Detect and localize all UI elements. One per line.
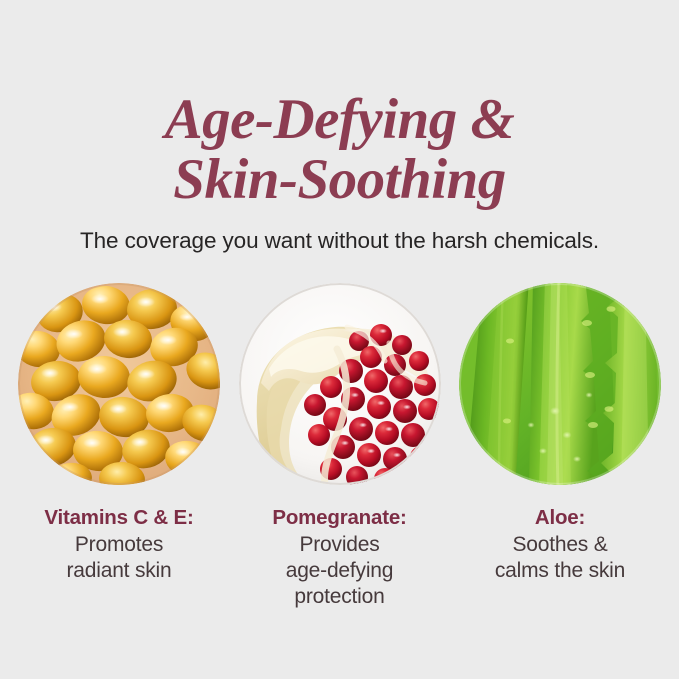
ingredient-caption: Pomegranate: Provides age-defying protec…: [272, 505, 406, 610]
promo-panel: Age-Defying & Skin-Soothing The coverage…: [0, 0, 679, 679]
ingredient-body: Promotes radiant skin: [44, 532, 193, 584]
ingredient-body-line: Soothes &: [495, 532, 625, 558]
ingredient-body-line: radiant skin: [44, 558, 193, 584]
ingredient-title: Aloe:: [495, 505, 625, 531]
ingredient-body-line: Provides: [272, 532, 406, 558]
ingredient-column-aloe: Aloe: Soothes & calms the skin: [459, 283, 661, 610]
ingredient-body: Provides age-defying protection: [272, 532, 406, 610]
ingredient-columns: Vitamins C & E: Promotes radiant skin: [0, 283, 679, 610]
aloe-vera-leaves-photo: [459, 283, 661, 485]
page-title: Age-Defying & Skin-Soothing: [0, 90, 679, 210]
ingredient-body-line: age-defying: [272, 558, 406, 584]
ingredient-caption: Aloe: Soothes & calms the skin: [495, 505, 625, 584]
ingredient-title: Vitamins C & E:: [44, 505, 193, 531]
ingredient-body-line: Promotes: [44, 532, 193, 558]
subtitle: The coverage you want without the harsh …: [0, 228, 679, 254]
headline-line-2: Skin-Soothing: [0, 150, 679, 210]
vitamin-softgel-capsules-photo: [18, 283, 220, 485]
headline-line-1: Age-Defying &: [0, 90, 679, 150]
ingredient-body-line: calms the skin: [495, 558, 625, 584]
ingredient-title: Pomegranate:: [272, 505, 406, 531]
pomegranate-fruit-photo: [239, 283, 441, 485]
ingredient-body-line: protection: [272, 584, 406, 610]
ingredient-column-vitamins: Vitamins C & E: Promotes radiant skin: [18, 283, 220, 610]
ingredient-caption: Vitamins C & E: Promotes radiant skin: [44, 505, 193, 584]
ingredient-column-pomegranate: Pomegranate: Provides age-defying protec…: [239, 283, 441, 610]
ingredient-body: Soothes & calms the skin: [495, 532, 625, 584]
